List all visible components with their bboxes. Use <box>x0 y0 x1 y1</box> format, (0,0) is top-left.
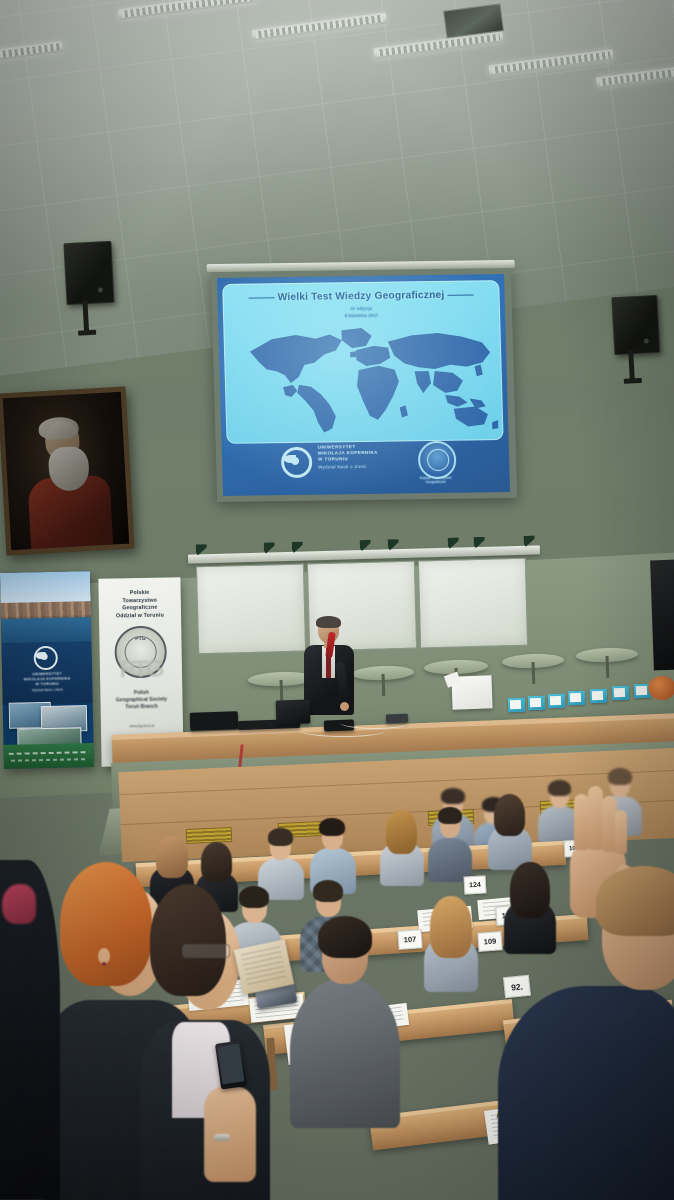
audience-member <box>380 810 424 880</box>
table-leg <box>382 674 386 696</box>
speaker-bracket <box>628 350 635 380</box>
foreground-figure-right <box>498 900 674 1200</box>
orange-object <box>648 676 674 700</box>
umk-logo-ring <box>34 646 58 670</box>
audience-member <box>424 896 478 986</box>
audio-mixer <box>190 711 239 731</box>
woman-earring-icon <box>102 962 106 966</box>
title-rule-left <box>249 297 275 299</box>
slide-footer: UNIWERSYTET MIKOŁAJA KOPERNIKA W TORUNIU… <box>221 432 510 494</box>
presenter-hand <box>340 702 349 711</box>
ptg-sub-line-3: Toruń Branch <box>125 704 158 711</box>
prize-item <box>568 691 585 706</box>
ptg-banner-url: www.ptg.torun.pl <box>101 723 183 729</box>
ptg-title-line-1: Polskie <box>130 590 150 596</box>
banner-cityscape <box>1 601 91 619</box>
table-leg <box>532 662 536 684</box>
finger-pinky <box>615 810 627 854</box>
prize-item <box>528 696 545 711</box>
umk-wordmark: UNIWERSYTET MIKOŁAJA KOPERNIKA W TORUNIU… <box>318 444 379 471</box>
ptg-banner-subtitle: Polish Geographical Society Toruń Branch <box>100 689 182 712</box>
ptg-sub-line-2: Geographical Society <box>116 697 167 704</box>
wall-speaker-left <box>63 241 116 343</box>
pink-accent <box>2 884 36 924</box>
presentation-slide: Wielki Test Wiedzy Geograficznej IV edyc… <box>217 274 510 496</box>
prize-box <box>451 675 492 709</box>
audience-member <box>428 806 472 876</box>
portrait-canvas <box>3 392 129 550</box>
table-leg <box>606 656 610 678</box>
ptg-sub-line-1: Polish <box>134 690 149 696</box>
speaker-cabinet <box>63 241 114 305</box>
person-hair <box>438 807 462 824</box>
laptop <box>276 699 311 724</box>
finger-middle <box>588 786 603 850</box>
audience-member <box>310 818 356 888</box>
banner-footer-text-1 <box>9 751 89 755</box>
wall-monitor <box>650 560 674 671</box>
prize-item <box>508 698 525 713</box>
person-torso <box>428 838 472 882</box>
figure-hair <box>596 866 674 936</box>
wall-speaker-right <box>611 295 664 397</box>
portrait-shading <box>3 392 129 550</box>
umk-logo-icon <box>284 447 313 475</box>
umk-logo-ring <box>281 447 313 478</box>
presenter-hair <box>316 616 341 628</box>
prize-item <box>548 694 565 709</box>
speaker-cabinet <box>611 295 660 355</box>
slide-title: Wielki Test Wiedzy Geograficznej <box>277 290 444 303</box>
ptg-seal-caption: Polskie Towarzystwo Geograficzne <box>411 476 461 485</box>
audience-member <box>488 794 532 864</box>
woman2-hair <box>150 884 226 996</box>
ptg-watermark: PTG <box>119 656 163 685</box>
person-hair <box>319 818 345 836</box>
ptg-seal-abbr: PTG <box>116 636 164 643</box>
speaker-bracket-foot <box>78 330 96 336</box>
lecture-hall-photo: Wielki Test Wiedzy Geograficznej IV edyc… <box>0 0 674 1200</box>
power-cable <box>340 716 410 729</box>
person-hair <box>313 880 343 902</box>
umk-logo-icon <box>35 646 57 668</box>
person-hair <box>430 896 472 958</box>
seat-number-placard: 107 <box>397 929 422 950</box>
person-hair <box>386 810 417 854</box>
framed-portrait <box>0 387 134 556</box>
slide-title-row: Wielki Test Wiedzy Geograficznej <box>222 289 499 304</box>
umk-line-3: W TORUNIU <box>318 456 378 463</box>
banner-footer-text-2 <box>11 758 87 761</box>
glasses-icon <box>182 944 230 958</box>
whiteboard-panel <box>418 558 528 649</box>
banner-photo-collage <box>9 701 88 747</box>
ptg-title-line-4: Oddział w Toruniu <box>116 612 164 619</box>
prize-item <box>590 689 607 704</box>
world-map-icon <box>237 322 502 436</box>
banner-org-text: UNIWERSYTET MIKOŁAJA KOPERNIKA W TORUNIU… <box>2 671 92 693</box>
ring-icon <box>214 1134 230 1141</box>
title-rule-right <box>447 294 473 296</box>
speaker-bracket <box>82 300 89 332</box>
person-hair <box>268 828 293 846</box>
hand-palm <box>204 1086 256 1182</box>
presenter-speaker <box>302 618 356 728</box>
notebook-lines <box>241 946 287 988</box>
woman-red-hair <box>60 862 152 986</box>
whiteboard-panel <box>196 564 306 655</box>
whiteboard-group <box>196 558 528 655</box>
audience-member <box>258 828 304 894</box>
foreground-student <box>290 916 400 1126</box>
ptg-banner-title: Polskie Towarzystwo Geograficzne Oddział… <box>99 589 182 621</box>
banner-footer-bar <box>4 743 94 769</box>
figure-shirt <box>498 986 674 1200</box>
speaker-bracket-foot <box>624 378 642 384</box>
slide-map-panel: Wielki Test Wiedzy Geograficznej IV edyc… <box>222 280 503 444</box>
prize-item <box>612 686 629 701</box>
table-leg <box>280 680 284 702</box>
projection-screen: Wielki Test Wiedzy Geograficznej IV edyc… <box>211 266 517 502</box>
ptg-title-line-2: Towarzystwo <box>123 597 157 604</box>
umk-rollup-banner: UNIWERSYTET MIKOŁAJA KOPERNIKA W TORUNIU… <box>0 571 94 769</box>
umk-faculty: Wydział Nauk o Ziemi <box>318 464 378 471</box>
person-hair <box>441 788 465 804</box>
person-hair <box>201 842 232 882</box>
seat-number-placard: 124 <box>464 875 487 894</box>
ptg-seal-icon <box>418 441 457 480</box>
person-hair <box>494 794 525 836</box>
slide-date: 8 kwietnia 2017 <box>223 311 500 320</box>
student-shirt <box>290 978 400 1128</box>
ptg-title-line-3: Geograficzne <box>122 605 157 612</box>
student-hair <box>318 916 372 958</box>
finger-index <box>574 794 589 850</box>
